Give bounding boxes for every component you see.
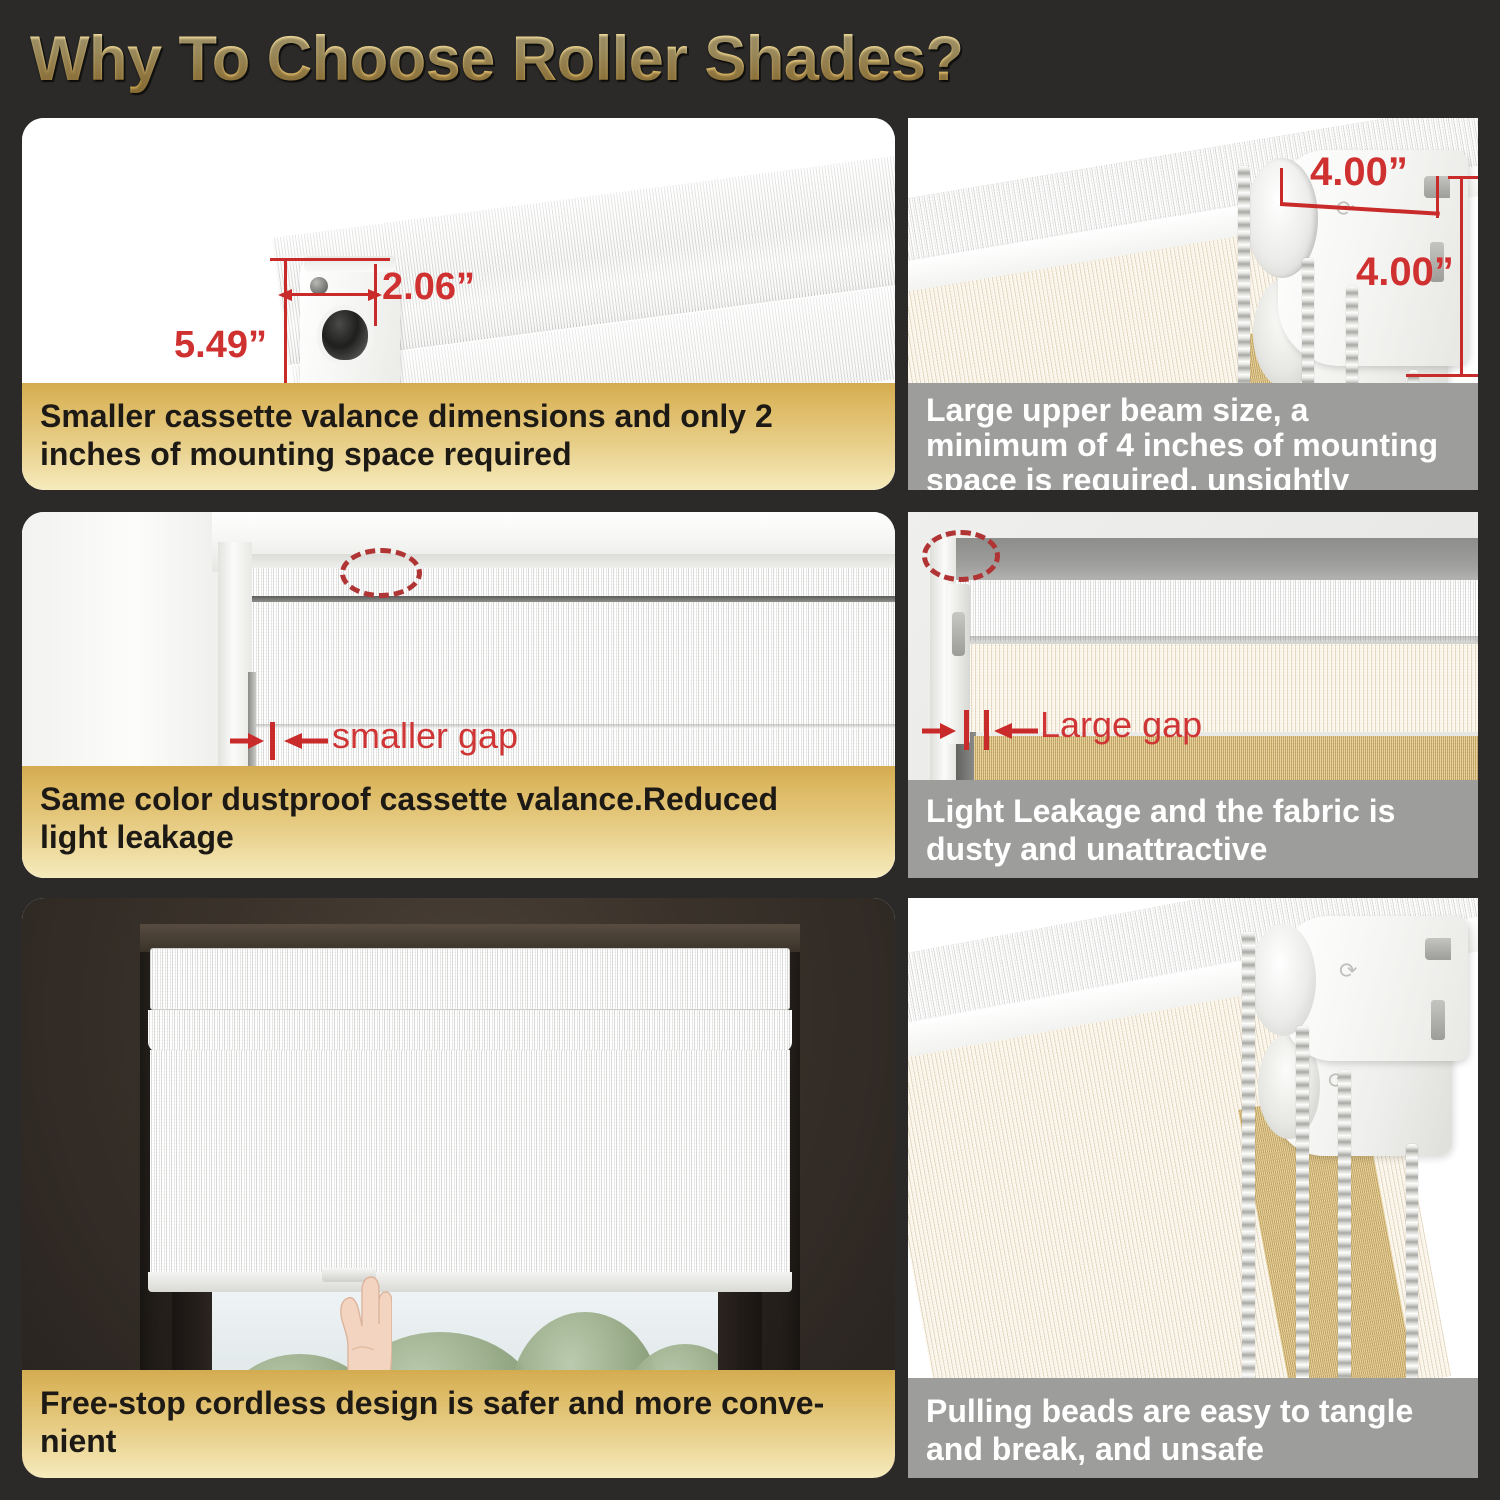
panel-3-caption: Same color dustproof cassette valance.Re… (22, 766, 895, 878)
panel-pulling-beads: ⟳ ⟳ Pulling beads are easy to tangle and… (908, 898, 1478, 1478)
highlight-ellipse-valance-seal (340, 548, 422, 598)
gap-arrow-right-icon (284, 730, 328, 752)
dim-height-tick-bottom (1406, 374, 1478, 377)
gap-label: Large gap (1040, 704, 1202, 746)
bracket-arrow-icon-upper: ⟳ (1339, 960, 1357, 982)
highlight-ellipse-exposed-bracket (922, 530, 1000, 582)
dim-height-line (1460, 176, 1463, 376)
cassette-head-rail-lower (148, 1010, 792, 1052)
panel-4-caption: Light Leakage and the fabric is dusty an… (908, 780, 1478, 878)
panel-5-caption: Free-stop cordless design is safer and m… (22, 1370, 895, 1478)
cassette-head-rail (150, 948, 790, 1010)
panel-6-caption: Pulling beads are easy to tangle and bre… (908, 1378, 1478, 1478)
gap-marker-line-a (964, 710, 969, 750)
panel-2-caption-text: Large upper beam size, a minimum of 4 in… (926, 393, 1460, 490)
dim-label-width: 4.00” (1310, 150, 1408, 195)
dim-label-width: 2.06” (382, 266, 475, 309)
gap-marker-line-b (984, 710, 989, 750)
panel-3-caption-text: Same color dustproof cassette valance.Re… (40, 780, 877, 856)
gap-marker-line (270, 722, 275, 760)
panel-5-caption-text: Free-stop cordless design is safer and m… (40, 1384, 877, 1460)
panel-light-leakage: Large gap Light Leakage and the fabric i… (908, 512, 1478, 878)
dim-width-arrow-right-icon (364, 286, 382, 304)
panel-4-caption-text: Light Leakage and the fabric is dusty an… (926, 792, 1460, 868)
bracket-slot-side (1431, 1000, 1445, 1040)
dim-height-tick-top (270, 258, 390, 261)
panel-dustproof-valance: smaller gap Same color dustproof cassett… (22, 512, 895, 878)
panel-smaller-cassette: 2.06” 5.49” Smaller cassette valance dim… (22, 118, 895, 490)
roller-tube (954, 580, 1478, 642)
gap-arrow-left-icon (922, 720, 956, 742)
dim-width-arrow-left-icon (278, 286, 296, 304)
gap-arrow-left-icon (230, 730, 264, 752)
dark-recess-top (954, 538, 1478, 584)
page-title: Why To Choose Roller Shades? (30, 22, 1130, 96)
bracket-slot-top (1425, 938, 1451, 960)
roller-tube-end-disc (1250, 924, 1316, 1036)
dim-height-tick-top (1448, 176, 1478, 179)
dim-label-height: 4.00” (1356, 250, 1454, 295)
panel-1-caption-text: Smaller cassette valance dimensions and … (40, 397, 877, 473)
panel-cordless-design: Free-stop cordless design is safer and m… (22, 898, 895, 1478)
roller-shade-fabric (150, 1050, 790, 1272)
panel-1-caption: Smaller cassette valance dimensions and … (22, 383, 895, 490)
panel-2-caption: Large upper beam size, a minimum of 4 in… (908, 383, 1478, 490)
free-stop-mechanism-knob (322, 310, 368, 360)
cassette-valance-lower (252, 602, 895, 674)
infographic-canvas: Why To Choose Roller Shades? Why To Choo… (0, 0, 1500, 1500)
panel-large-upper-beam: ⟳ ⟳ 4.00” 4.00” Large upper beam size (908, 118, 1478, 490)
dim-label-height: 5.49” (174, 324, 267, 367)
panel-6-caption-text: Pulling beads are easy to tangle and bre… (926, 1392, 1460, 1468)
gap-label: smaller gap (332, 715, 518, 757)
shade-bottom-rail (148, 1272, 792, 1292)
gap-arrow-right-icon (994, 720, 1038, 742)
dim-width-ext-left (1280, 168, 1283, 204)
shade-fabric-cream-band (954, 644, 1478, 732)
